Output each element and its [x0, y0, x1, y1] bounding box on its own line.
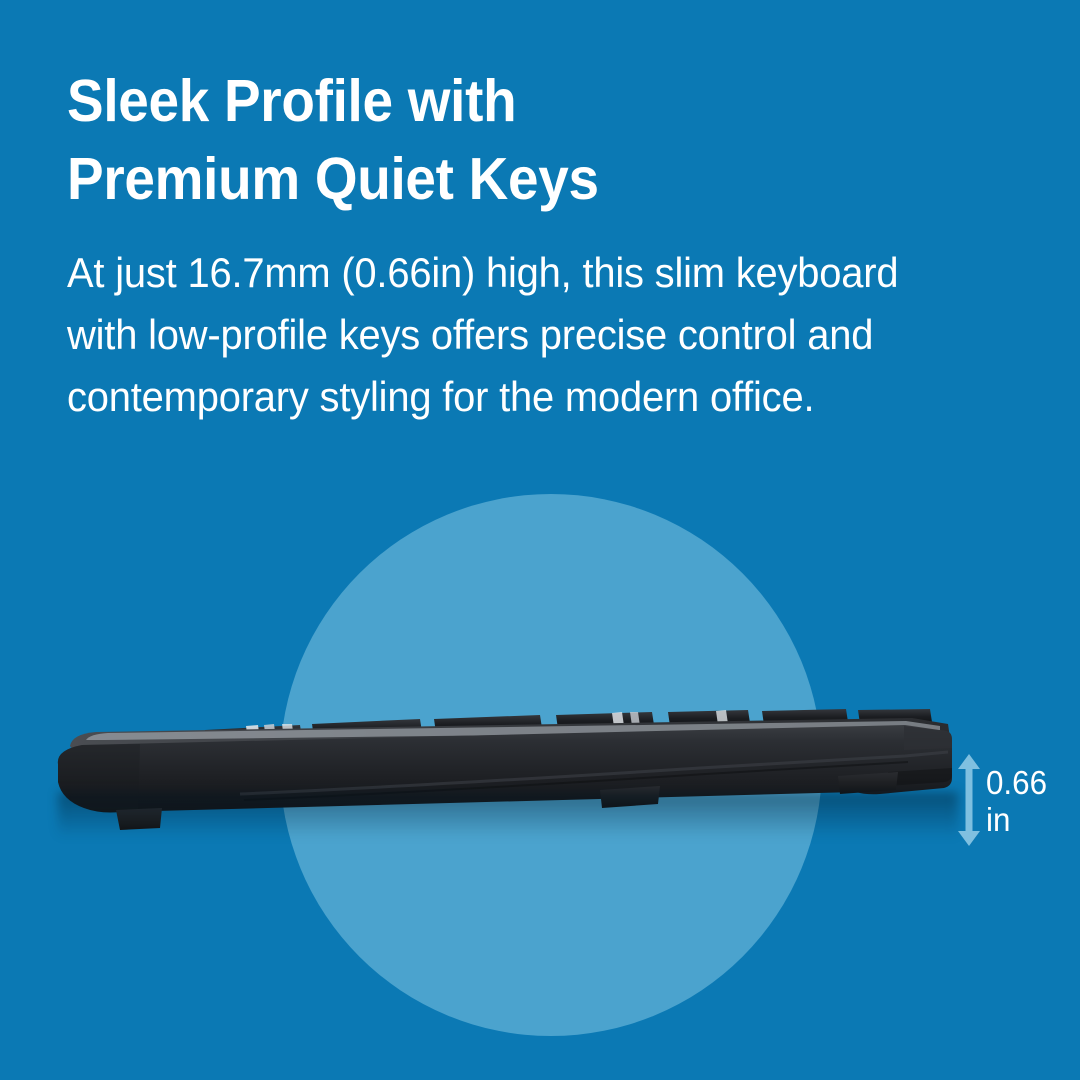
product-image-keyboard-profile	[0, 690, 1080, 890]
page-title: Sleek Profile with Premium Quiet Keys	[67, 62, 904, 218]
body-line-1: At just 16.7mm (0.66in) high, this slim …	[67, 242, 998, 304]
headline-line-1: Sleek Profile with	[67, 62, 904, 140]
dimension-callout: 0.66 in	[950, 752, 1060, 852]
keyboard-profile-illustration	[0, 690, 1080, 890]
body-description: At just 16.7mm (0.66in) high, this slim …	[67, 242, 998, 428]
headline-line-2: Premium Quiet Keys	[67, 140, 904, 218]
dimension-unit: in	[986, 801, 1047, 838]
product-shadow	[58, 792, 958, 838]
body-line-3: contemporary styling for the modern offi…	[67, 366, 998, 428]
dimension-label: 0.66 in	[986, 764, 1047, 838]
dimension-value: 0.66	[986, 764, 1047, 801]
body-line-2: with low-profile keys offers precise con…	[67, 304, 998, 366]
dimension-arrow-icon	[956, 752, 982, 848]
